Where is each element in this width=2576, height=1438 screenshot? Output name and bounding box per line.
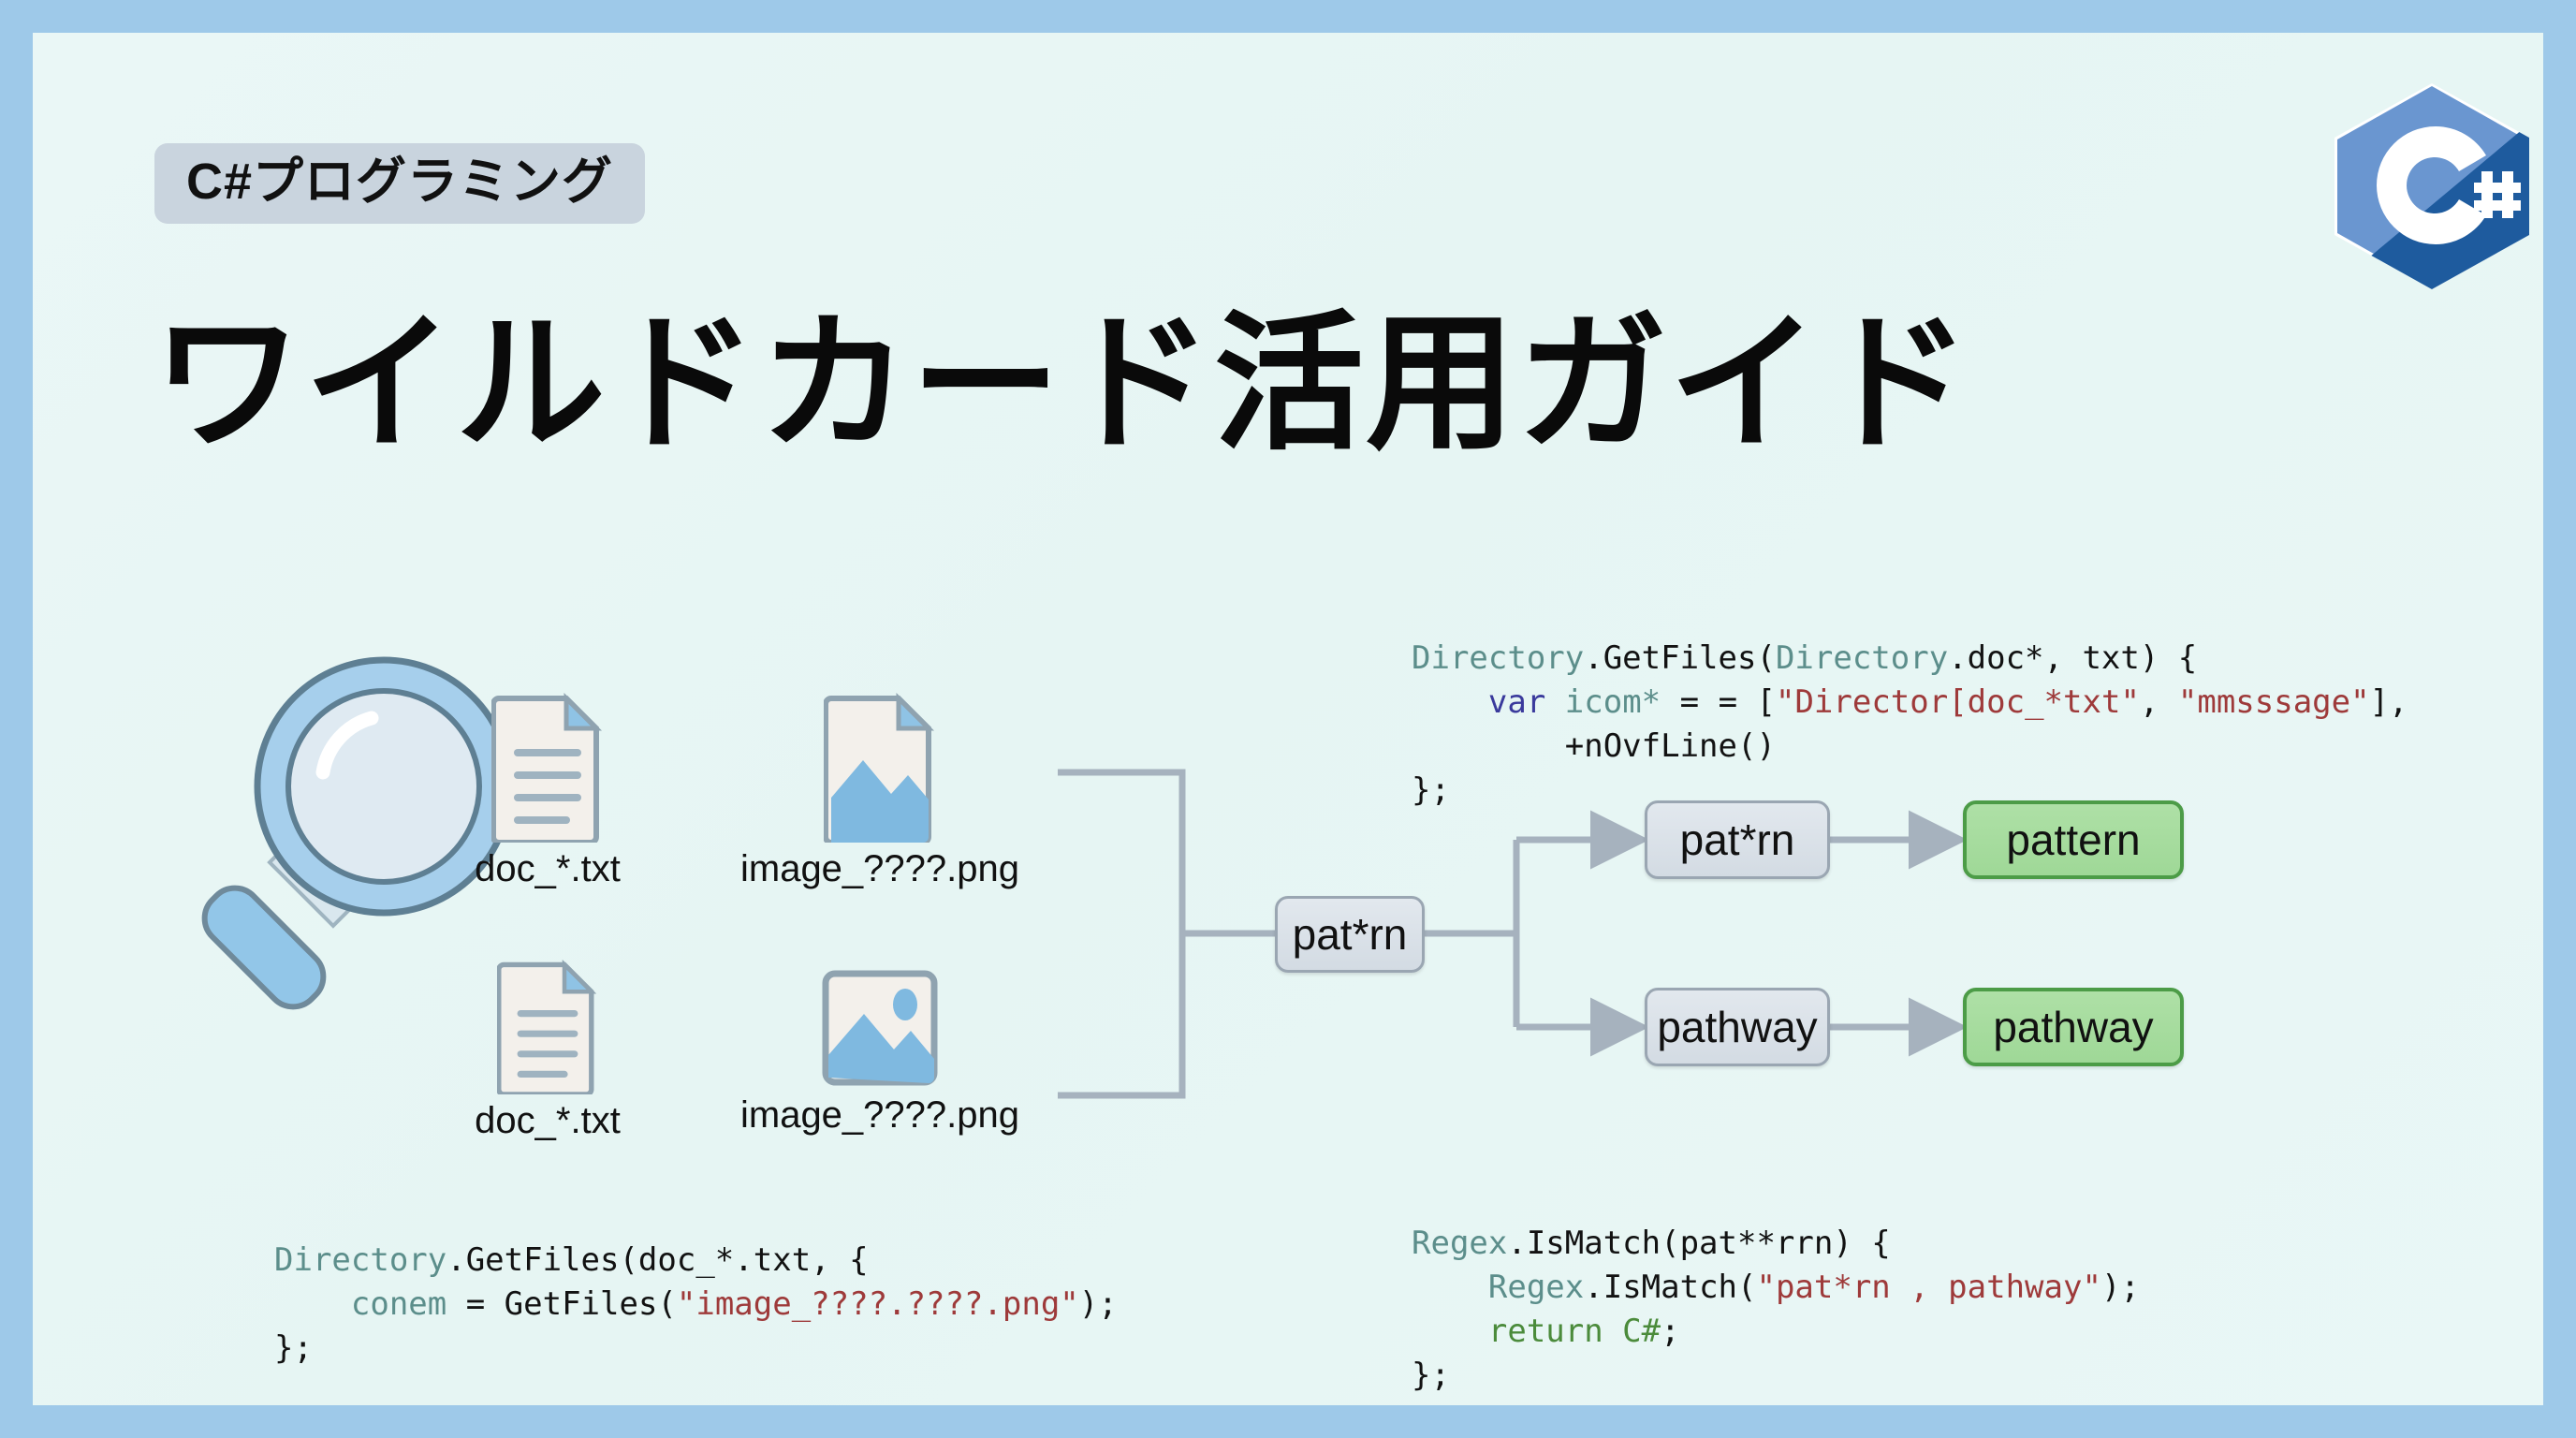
image-file-icon bbox=[819, 967, 941, 1089]
code-token-comma: , bbox=[2140, 683, 2178, 721]
code-token-call: = GetFiles( bbox=[446, 1285, 677, 1323]
file-item-doc-2: doc_*.txt bbox=[459, 960, 637, 1142]
category-badge: C#プログラミング bbox=[154, 143, 645, 224]
image-file-icon bbox=[824, 693, 936, 843]
flow-node-label: pat*rn bbox=[1293, 909, 1408, 960]
file-item-image-2: image_????.png bbox=[707, 967, 1053, 1137]
code-token-end: ; bbox=[1661, 1313, 1679, 1350]
code-token-args: .doc*, txt) { bbox=[1948, 639, 2197, 677]
code-token-identifier: conem bbox=[351, 1285, 446, 1323]
document-file-icon bbox=[491, 693, 604, 843]
code-indent bbox=[1412, 683, 1488, 721]
code-line: }; bbox=[1412, 1357, 1450, 1394]
code-token-string: "Director[doc_*txt" bbox=[1776, 683, 2140, 721]
code-token-string: "mmsssage" bbox=[2178, 683, 2370, 721]
document-file-icon bbox=[497, 960, 598, 1094]
file-label: image_????.png bbox=[707, 1094, 1053, 1137]
flow-node-label: pattern bbox=[2006, 814, 2140, 865]
file-item-image-1: image_????.png bbox=[707, 693, 1053, 890]
code-token-class: Regex bbox=[1412, 1225, 1507, 1262]
code-block-bottom-left: Directory.GetFiles(doc_*.txt, { conem = … bbox=[274, 1239, 1118, 1371]
poster-root: C#プログラミング ワイルドカード活用ガイド bbox=[0, 0, 2576, 1438]
code-indent bbox=[274, 1285, 351, 1323]
page-title: ワイルドカード活用ガイド bbox=[153, 309, 1972, 459]
flow-node-label: pathway bbox=[1993, 1002, 2153, 1052]
code-token-operator: = = [ bbox=[1661, 683, 1776, 721]
file-label: doc_*.txt bbox=[459, 1100, 637, 1142]
code-token-string: "pat*rn , pathway" bbox=[1756, 1269, 2100, 1306]
code-token-star: * bbox=[1642, 683, 1661, 721]
code-token-identifier: icom bbox=[1565, 683, 1642, 721]
code-line: +nOvfLine() bbox=[1412, 727, 1776, 765]
code-token-end: ); bbox=[2101, 1269, 2140, 1306]
code-token-string: "image_????.????.png" bbox=[677, 1285, 1079, 1323]
code-token-class: Regex bbox=[1488, 1269, 1584, 1306]
code-token-call: .IsMatch(pat**rrn) { bbox=[1507, 1225, 1890, 1262]
code-line: }; bbox=[1412, 771, 1450, 809]
csharp-logo-icon bbox=[2324, 78, 2539, 295]
flow-node-label: pathway bbox=[1657, 1002, 1817, 1052]
code-token-call: .GetFiles(doc_*.txt, { bbox=[446, 1241, 868, 1279]
code-token-call: .IsMatch( bbox=[1584, 1269, 1756, 1306]
file-label: doc_*.txt bbox=[459, 848, 637, 890]
code-token-end: ); bbox=[1079, 1285, 1118, 1323]
code-line: }; bbox=[274, 1329, 313, 1367]
code-token-keyword: return C# bbox=[1488, 1313, 1661, 1350]
code-token-keyword: var bbox=[1488, 683, 1565, 721]
code-block-bottom-right: Regex.IsMatch(pat**rrn) { Regex.IsMatch(… bbox=[1412, 1222, 2140, 1398]
code-indent bbox=[1412, 1313, 1488, 1350]
code-block-top-right: Directory.GetFiles(Directory.doc*, txt) … bbox=[1412, 637, 2408, 813]
flow-node-input-pathway[interactable]: pathway bbox=[1645, 988, 1830, 1066]
code-token-class: Directory bbox=[274, 1241, 446, 1279]
flow-node-label: pat*rn bbox=[1680, 814, 1795, 865]
code-token-class: Directory bbox=[1776, 639, 1948, 677]
flow-node-output-pathway[interactable]: pathway bbox=[1963, 988, 2184, 1066]
code-indent bbox=[1412, 1269, 1488, 1306]
code-token-class: Directory bbox=[1412, 639, 1584, 677]
file-item-doc-1: doc_*.txt bbox=[459, 693, 637, 890]
poster-panel: C#プログラミング ワイルドカード活用ガイド bbox=[33, 33, 2543, 1405]
code-token-end: ], bbox=[2370, 683, 2408, 721]
flow-node-source[interactable]: pat*rn bbox=[1275, 896, 1425, 973]
code-token-call: .GetFiles( bbox=[1584, 639, 1776, 677]
file-label: image_????.png bbox=[707, 848, 1053, 890]
